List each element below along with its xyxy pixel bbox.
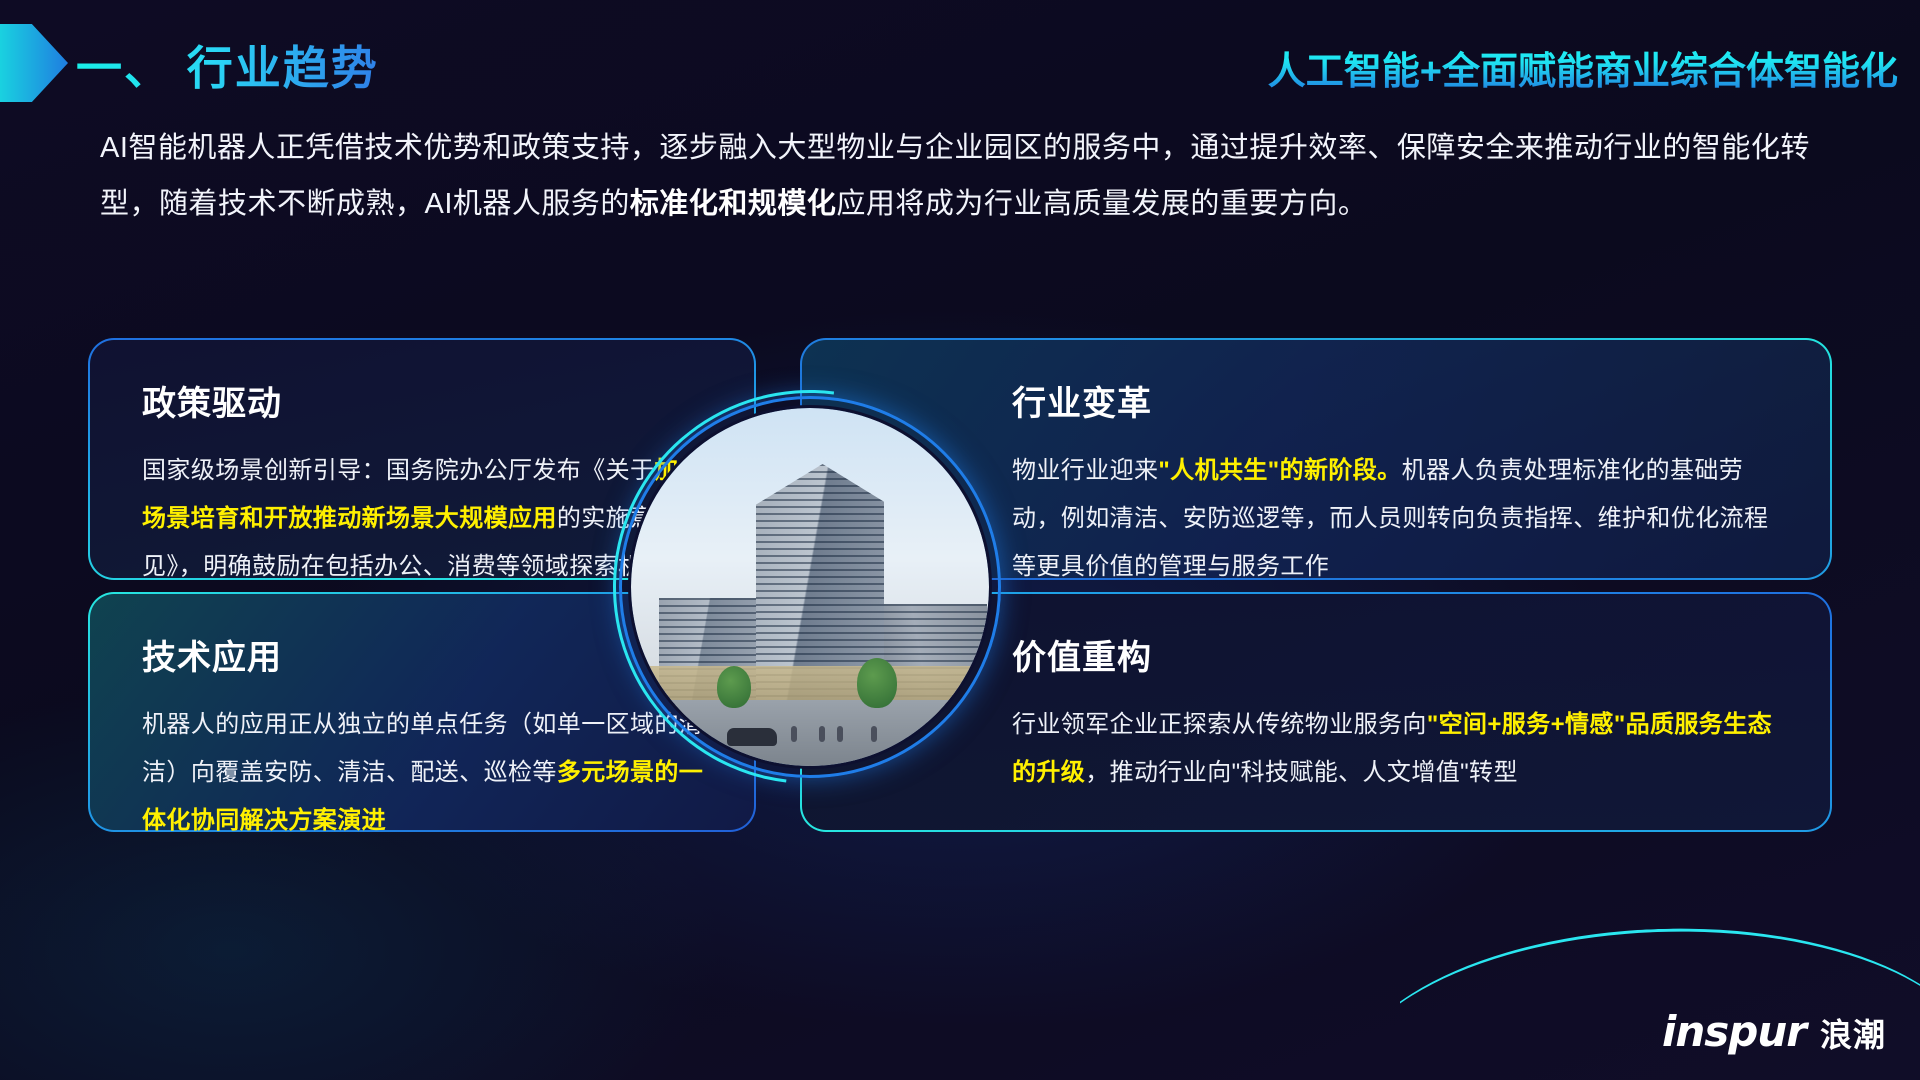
intro-paragraph: AI智能机器人正凭借技术优势和政策支持，逐步融入大型物业与企业园区的服务中，通过… bbox=[100, 120, 1860, 232]
page-title: 一、 行业趋势 bbox=[76, 32, 379, 98]
pedestrian-icon bbox=[837, 726, 843, 742]
tree-icon bbox=[717, 666, 751, 708]
card-industry-text-pre: 物业行业迎来 bbox=[1012, 457, 1158, 484]
header-subtitle: 人工智能+全面赋能商业综合体智能化 bbox=[1268, 40, 1898, 95]
pedestrian-icon bbox=[819, 726, 825, 742]
logo-swoosh-decoration bbox=[1400, 898, 1920, 1018]
card-value-text-post: ，推动行业向"科技赋能、人文增值"转型 bbox=[1085, 759, 1518, 786]
circle-ring-inner bbox=[628, 405, 992, 769]
logo-latin-text: inspur bbox=[1662, 1007, 1806, 1056]
center-building-image bbox=[619, 396, 1001, 778]
plaza-ground bbox=[631, 700, 989, 766]
tree-icon bbox=[857, 658, 897, 708]
card-policy-text-pre: 国家级场景创新引导：国务院办公厅发布《关于 bbox=[142, 457, 654, 484]
intro-text-part2: 应用将成为行业高质量发展的重要方向。 bbox=[836, 188, 1367, 220]
pedestrian-icon bbox=[791, 726, 797, 742]
card-value-title: 价值重构 bbox=[1012, 630, 1788, 679]
logo-chinese-text: 浪潮 bbox=[1820, 1010, 1886, 1056]
card-industry-body: 物业行业迎来"人机共生"的新阶段。机器人负责处理标准化的基础劳动，例如清洁、安防… bbox=[1012, 447, 1788, 591]
card-value-body: 行业领军企业正探索从传统物业服务向"空间+服务+情感"品质服务生态的升级，推动行… bbox=[1012, 701, 1788, 797]
building-photo bbox=[631, 408, 989, 766]
slide-root: 一、 行业趋势 人工智能+全面赋能商业综合体智能化 AI智能机器人正凭借技术优势… bbox=[0, 0, 1920, 1080]
chevron-right-icon bbox=[0, 24, 68, 102]
car-icon bbox=[727, 728, 777, 746]
card-value-text-pre: 行业领军企业正探索从传统物业服务向 bbox=[1012, 711, 1427, 738]
inspur-logo: inspur 浪潮 bbox=[1662, 1007, 1886, 1056]
intro-text-bold: 标准化和规模化 bbox=[630, 188, 837, 220]
card-industry-title: 行业变革 bbox=[1012, 376, 1788, 425]
card-industry-text-highlight: "人机共生"的新阶段。 bbox=[1158, 457, 1401, 484]
pedestrian-icon bbox=[871, 726, 877, 742]
